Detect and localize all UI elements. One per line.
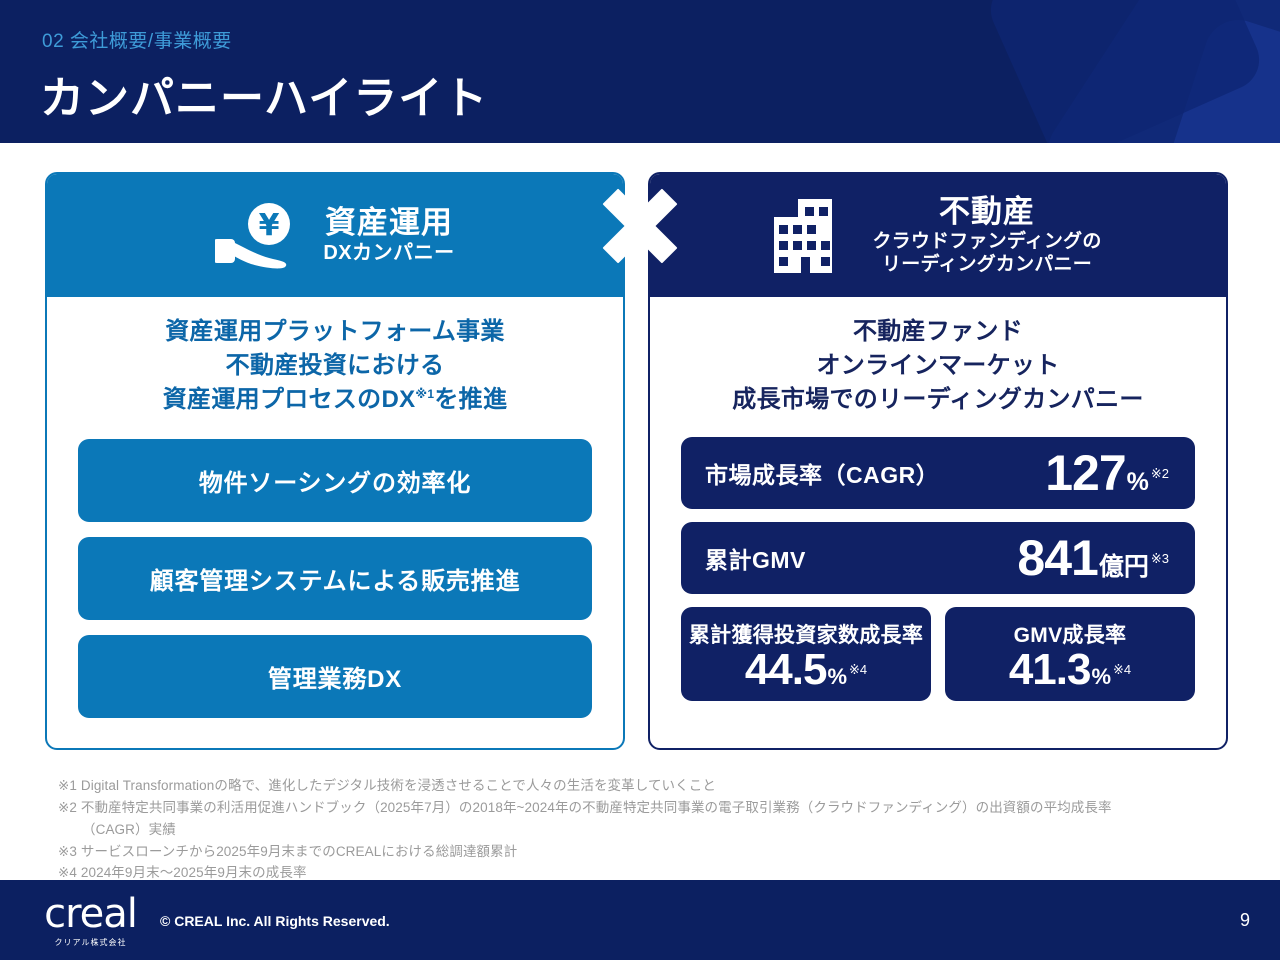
building-icon bbox=[774, 199, 850, 273]
left-card-subtitle: DXカンパニー bbox=[323, 241, 454, 265]
stat-footnote-ref: ※4 bbox=[849, 662, 867, 678]
footnote-2: ※2 不動産特定共同事業の利活用促進ハンドブック（2025年7月）の2018年~… bbox=[58, 797, 1238, 819]
svg-text:¥: ¥ bbox=[259, 208, 280, 243]
stat-footnote-ref: ※3 bbox=[1151, 551, 1169, 567]
pill-item[interactable]: 顧客管理システムによる販売推進 bbox=[78, 537, 592, 620]
stat-card-investor-growth[interactable]: 累計獲得投資家数成長率 44.5 % ※4 bbox=[681, 607, 931, 701]
right-card-lead: 不動産ファンド オンラインマーケット 成長市場でのリーディングカンパニー bbox=[670, 315, 1206, 417]
stat-unit: % bbox=[1127, 468, 1149, 497]
right-lead-line-3: 成長市場でのリーディングカンパニー bbox=[670, 383, 1206, 417]
right-lead-line-1: 不動産ファンド bbox=[670, 315, 1206, 349]
left-lead-line-3-footnote-ref: ※1 bbox=[415, 387, 434, 401]
card-asset-management: ¥ 資産運用 DXカンパニー 資産運用プラットフォーム事業 不動産投資における … bbox=[45, 172, 625, 750]
stat-value-group: 127 % ※2 bbox=[1045, 448, 1169, 498]
left-card-body: 資産運用プラットフォーム事業 不動産投資における 資産運用プロセスのDX※1を推… bbox=[47, 297, 623, 718]
stat-footnote-ref: ※2 bbox=[1151, 466, 1169, 482]
left-lead-line-3: 資産運用プロセスのDX※1を推進 bbox=[67, 383, 603, 417]
stat-card-gmv[interactable]: 累計GMV 841 億円 ※3 bbox=[681, 522, 1195, 594]
right-card-body: 不動産ファンド オンラインマーケット 成長市場でのリーディングカンパニー 市場成… bbox=[650, 297, 1226, 701]
left-lead-line-2: 不動産投資における bbox=[67, 349, 603, 383]
stat-value: 41.3 bbox=[1009, 648, 1091, 692]
left-lead-line-3-tail: を推進 bbox=[434, 386, 507, 413]
stat-card-cagr[interactable]: 市場成長率（CAGR） 127 % ※2 bbox=[681, 437, 1195, 509]
logo-wordmark: creal bbox=[33, 894, 148, 934]
stat-row-small: 累計獲得投資家数成長率 44.5 % ※4 GMV成長率 41.3 % bbox=[681, 607, 1195, 701]
logo-subtext: クリアル株式会社 bbox=[33, 937, 148, 948]
stat-value: 841 bbox=[1017, 533, 1097, 583]
hand-holding-yen-icon: ¥ bbox=[215, 201, 301, 271]
x-cross-icon bbox=[590, 176, 690, 276]
stat-unit: % bbox=[827, 664, 847, 690]
right-card-header-text: 不動産 クラウドファンディングの リーディングカンパニー bbox=[872, 195, 1101, 276]
header-decoration bbox=[950, 0, 1280, 143]
creal-logo: creal クリアル株式会社 bbox=[33, 894, 148, 948]
footnote-2-continued: （CAGR）実績 bbox=[58, 819, 1238, 841]
left-lead-line-1: 資産運用プラットフォーム事業 bbox=[67, 315, 603, 349]
stat-footnote-ref: ※4 bbox=[1113, 662, 1131, 678]
section-eyebrow: 02 会社概要/事業概要 bbox=[42, 26, 232, 53]
right-card-header: 不動産 クラウドファンディングの リーディングカンパニー bbox=[650, 174, 1226, 297]
stat-unit: % bbox=[1091, 664, 1111, 690]
right-card-stat-list: 市場成長率（CAGR） 127 % ※2 累計GMV 841 億円 ※3 bbox=[670, 437, 1206, 701]
footnote-3: ※3 サービスローンチから2025年9月末までのCREALにおける総調達額累計 bbox=[58, 841, 1238, 863]
card-real-estate: 不動産 クラウドファンディングの リーディングカンパニー 不動産ファンド オンラ… bbox=[648, 172, 1228, 750]
page-title: カンパニーハイライト bbox=[40, 62, 488, 126]
stat-card-gmv-growth[interactable]: GMV成長率 41.3 % ※4 bbox=[945, 607, 1195, 701]
stat-value-group: 44.5 % ※4 bbox=[745, 648, 867, 692]
right-card-title: 不動産 bbox=[872, 195, 1101, 230]
page-number: 9 bbox=[1240, 910, 1250, 931]
stat-value-group: 841 億円 ※3 bbox=[1017, 533, 1169, 583]
left-lead-line-3-main: 資産運用プロセスのDX bbox=[163, 386, 416, 413]
right-card-subtitle-1: クラウドファンディングの bbox=[872, 230, 1101, 253]
left-card-header-text: 資産運用 DXカンパニー bbox=[323, 206, 454, 265]
slide-header: 02 会社概要/事業概要 カンパニーハイライト bbox=[0, 0, 1280, 143]
left-card-lead: 資産運用プラットフォーム事業 不動産投資における 資産運用プロセスのDX※1を推… bbox=[67, 315, 603, 417]
slide: 02 会社概要/事業概要 カンパニーハイライト ¥ 資産運用 DXカンパニー bbox=[0, 0, 1280, 960]
left-card-pill-list: 物件ソーシングの効率化 顧客管理システムによる販売推進 管理業務DX bbox=[67, 439, 603, 718]
stat-label: 累計GMV bbox=[705, 541, 806, 575]
stat-value: 44.5 bbox=[745, 648, 827, 692]
slide-footer: creal クリアル株式会社 © CREAL Inc. All Rights R… bbox=[0, 880, 1280, 960]
left-card-header: ¥ 資産運用 DXカンパニー bbox=[47, 174, 623, 297]
stat-unit: 億円 bbox=[1099, 547, 1149, 583]
footnote-1: ※1 Digital Transformationの略で、進化したデジタル技術を… bbox=[58, 775, 1238, 797]
slide-content: ¥ 資産運用 DXカンパニー 資産運用プラットフォーム事業 不動産投資における … bbox=[0, 143, 1280, 880]
left-card-title: 資産運用 bbox=[323, 206, 454, 241]
stat-value-group: 41.3 % ※4 bbox=[1009, 648, 1131, 692]
copyright-text: © CREAL Inc. All Rights Reserved. bbox=[160, 913, 390, 929]
pill-item[interactable]: 管理業務DX bbox=[78, 635, 592, 718]
pill-item[interactable]: 物件ソーシングの効率化 bbox=[78, 439, 592, 522]
stat-value: 127 bbox=[1045, 448, 1125, 498]
footnote-list: ※1 Digital Transformationの略で、進化したデジタル技術を… bbox=[58, 775, 1238, 884]
right-lead-line-2: オンラインマーケット bbox=[670, 349, 1206, 383]
stat-label: 市場成長率（CAGR） bbox=[705, 456, 939, 490]
right-card-subtitle-2: リーディングカンパニー bbox=[872, 253, 1101, 276]
